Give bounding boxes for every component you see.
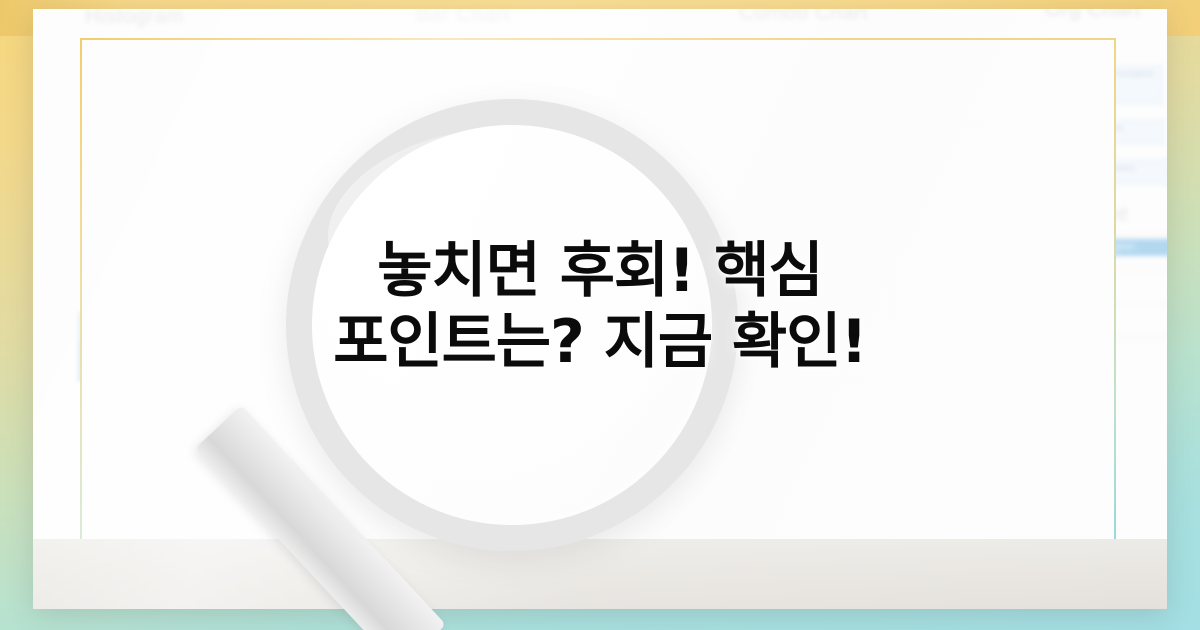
panel-title-histogram: Histogram [85,9,184,29]
headline-line-2: 포인트는? 지금 확인! [140,307,1060,378]
thumbnail-canvas: Histogram Bar Chart Combo Chart Org Char… [0,0,1200,630]
headline-line-1: 놓치면 후회! 핵심 [377,236,823,306]
panel-title-bar-chart: Bar Chart [416,9,509,27]
panel-title-combo-chart: Combo Chart [739,9,868,25]
board-bottom-strip [33,539,1167,609]
headline-text: 놓치면 후회! 핵심 포인트는? 지금 확인! [0,236,1200,378]
panel-title-org-chart: Org Chart [1045,9,1141,22]
